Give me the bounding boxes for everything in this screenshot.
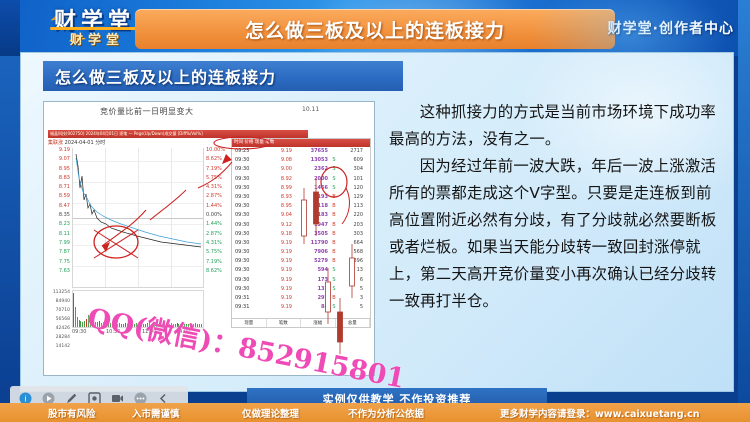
tick-price: 8.93 bbox=[264, 193, 292, 202]
price-axis-tick: 8.83 bbox=[46, 174, 71, 183]
tick-price: 8.92 bbox=[264, 175, 292, 184]
tick-price: 9.19 bbox=[264, 303, 292, 312]
chart-volume-axis: 113254849407071056568424262828414142 bbox=[46, 288, 71, 351]
volume-axis-tick: 113254 bbox=[46, 288, 71, 297]
tick-price: 9.08 bbox=[264, 156, 292, 165]
price-axis-tick: 8.23 bbox=[46, 220, 71, 229]
percent-axis-tick: 7.19% bbox=[205, 258, 229, 267]
tick-price: 9.19 bbox=[264, 266, 292, 275]
percent-axis-tick: 4.31% bbox=[205, 183, 229, 192]
tick-price: 9.19 bbox=[264, 248, 292, 257]
volume-axis-tick: 56568 bbox=[46, 315, 71, 324]
percent-axis-tick: 0.00% bbox=[205, 211, 229, 220]
right-edge-strip bbox=[738, 0, 750, 403]
footer-item-2: 入市需谨慎 bbox=[132, 406, 180, 420]
paragraph-2: 因为经过年前一波大跌，年后一波上涨激活所有的票都走成这个V字型。只要是走连板到前… bbox=[389, 153, 719, 315]
volume-bar bbox=[82, 322, 83, 327]
tick-time: 09:30 bbox=[232, 230, 264, 239]
slide-title-bar: 怎么做三板及以上的连板接力 bbox=[43, 61, 403, 91]
price-axis-tick: 8.47 bbox=[46, 202, 71, 211]
top-banner: 财学堂 财学堂 怎么做三板及以上的连板接力 财学堂·创作者中心 bbox=[0, 0, 750, 56]
percent-axis-tick: 1.44% bbox=[205, 202, 229, 211]
chart-percent-axis: 10.00%8.62%7.19%5.75%4.31%2.87%1.44%0.00… bbox=[205, 146, 229, 276]
banner-title: 怎么做三板及以上的连板接力 bbox=[245, 16, 505, 43]
tick-time: 09:30 bbox=[232, 184, 264, 193]
tick-price: 9.04 bbox=[264, 211, 292, 220]
tick-time: 09:30 bbox=[232, 257, 264, 266]
percent-axis-tick: 5.75% bbox=[205, 248, 229, 257]
tick-price: 9.18 bbox=[264, 230, 292, 239]
tick-price: 9.19 bbox=[264, 285, 292, 294]
tick-price: 8.95 bbox=[264, 202, 292, 211]
volume-bar bbox=[77, 317, 78, 327]
chart-annotation-price: 10.11 bbox=[302, 106, 319, 113]
tick-price: 9.19 bbox=[264, 257, 292, 266]
price-axis-tick: 8.35 bbox=[46, 211, 71, 220]
volume-axis-tick: 28284 bbox=[46, 333, 71, 342]
tick-price: 9.12 bbox=[264, 221, 292, 230]
tick-price: 8.99 bbox=[264, 184, 292, 193]
tick-time: 09:30 bbox=[232, 266, 264, 275]
svg-text:i: i bbox=[24, 394, 26, 403]
footer-website: 更多财学内容请登录：www.caixuetang.cn bbox=[500, 406, 700, 420]
chart-header-bar: 福晶科技(002750) 2024年04月01日 逐笔 — Pegs(Up/Do… bbox=[48, 130, 308, 138]
paragraph-1: 这种抓接力的方式是当前市场环境下成功率最高的方法，没有之一。 bbox=[389, 99, 719, 153]
volume-axis-tick: 70710 bbox=[46, 306, 71, 315]
tick-time: 09:30 bbox=[232, 239, 264, 248]
footer-website-url: www.caixuetang.cn bbox=[595, 409, 699, 420]
left-edge-strip bbox=[0, 56, 20, 403]
volume-bar bbox=[73, 293, 74, 327]
volume-axis-tick: 84940 bbox=[46, 297, 71, 306]
tick-time: 09:30 bbox=[232, 202, 264, 211]
footer-website-label: 更多财学内容请登录： bbox=[500, 409, 595, 420]
price-axis-tick: 7.99 bbox=[46, 239, 71, 248]
tick-price: 9.00 bbox=[264, 165, 292, 174]
percent-axis-tick: 7.19% bbox=[205, 165, 229, 174]
tick-time: 09:25 bbox=[232, 147, 264, 156]
tick-time: 09:30 bbox=[232, 276, 264, 285]
percent-axis-tick: 2.87% bbox=[205, 192, 229, 201]
price-axis-tick: 9.07 bbox=[46, 155, 71, 164]
price-axis-tick: 8.71 bbox=[46, 183, 71, 192]
price-axis-tick: 7.87 bbox=[46, 248, 71, 257]
volume-bar bbox=[75, 307, 76, 327]
chart-annotation-top: 竞价量比前一日明显变大 bbox=[100, 106, 194, 117]
volume-bar bbox=[79, 320, 80, 327]
footer-item-4: 不作为分析公依据 bbox=[348, 406, 424, 420]
chart-sub-header: 集联涨 2024-04-01 分时 bbox=[48, 139, 208, 147]
percent-axis-tick: 2.87% bbox=[205, 230, 229, 239]
tick-price: 9.19 bbox=[264, 276, 292, 285]
tick-time: 09:31 bbox=[232, 303, 264, 312]
footer-item-3: 仅做理论整理 bbox=[242, 406, 299, 420]
lesson-text-block: 这种抓接力的方式是当前市场环境下成功率最高的方法，没有之一。 因为经过年前一波大… bbox=[389, 99, 719, 379]
volume-axis-tick: 14142 bbox=[46, 342, 71, 351]
tick-time: 09:30 bbox=[232, 211, 264, 220]
volume-bar bbox=[80, 321, 81, 327]
tick-price: 9.19 bbox=[264, 239, 292, 248]
tick-time: 09:30 bbox=[232, 193, 264, 202]
price-axis-tick: 8.59 bbox=[46, 192, 71, 201]
slide-title-text: 怎么做三板及以上的连板接力 bbox=[55, 64, 276, 88]
tick-table-header: 时间 价格 现量 笔数 bbox=[232, 139, 370, 147]
intraday-price-graph bbox=[72, 148, 204, 288]
tick-time: 09:30 bbox=[232, 156, 264, 165]
tick-time: 09:30 bbox=[232, 285, 264, 294]
price-line-svg bbox=[73, 148, 205, 288]
price-axis-tick: 8.11 bbox=[46, 230, 71, 239]
tick-time: 09:30 bbox=[232, 165, 264, 174]
tick-time: 09:30 bbox=[232, 175, 264, 184]
tick-price: 9.19 bbox=[264, 294, 292, 303]
price-axis-tick: 9.19 bbox=[46, 146, 71, 155]
percent-axis-tick: 1.44% bbox=[205, 220, 229, 229]
tick-time: 09:30 bbox=[232, 248, 264, 257]
price-axis-tick: 7.75 bbox=[46, 258, 71, 267]
percent-axis-tick: 5.75% bbox=[205, 174, 229, 183]
percent-axis-tick: 4.31% bbox=[205, 239, 229, 248]
tick-time: 09:31 bbox=[232, 294, 264, 303]
volume-axis-tick: 42426 bbox=[46, 324, 71, 333]
tick-price: 9.19 bbox=[264, 147, 292, 156]
logo-sub-text: 财学堂 bbox=[70, 29, 124, 48]
price-axis-tick: 8.95 bbox=[46, 165, 71, 174]
banner-left-bar bbox=[0, 0, 20, 56]
percent-axis-tick: 8.62% bbox=[205, 267, 229, 276]
volume-bar bbox=[84, 321, 85, 327]
percent-axis-tick: 10.00% bbox=[205, 146, 229, 155]
tick-time: 09:30 bbox=[232, 221, 264, 230]
banner-brand-right: 财学堂·创作者中心 bbox=[608, 18, 734, 38]
percent-axis-tick: 8.62% bbox=[205, 155, 229, 164]
footer-item-1: 股市有风险 bbox=[48, 406, 96, 420]
banner-title-plate: 怎么做三板及以上的连板接力 bbox=[135, 9, 615, 49]
chart-price-axis: 9.199.078.958.838.718.598.478.358.238.11… bbox=[46, 146, 71, 276]
footer-bar: 股市有风险 入市需谨慎 仅做理论整理 不作为分析公依据 更多财学内容请登录：ww… bbox=[0, 403, 750, 422]
price-axis-tick: 7.63 bbox=[46, 267, 71, 276]
